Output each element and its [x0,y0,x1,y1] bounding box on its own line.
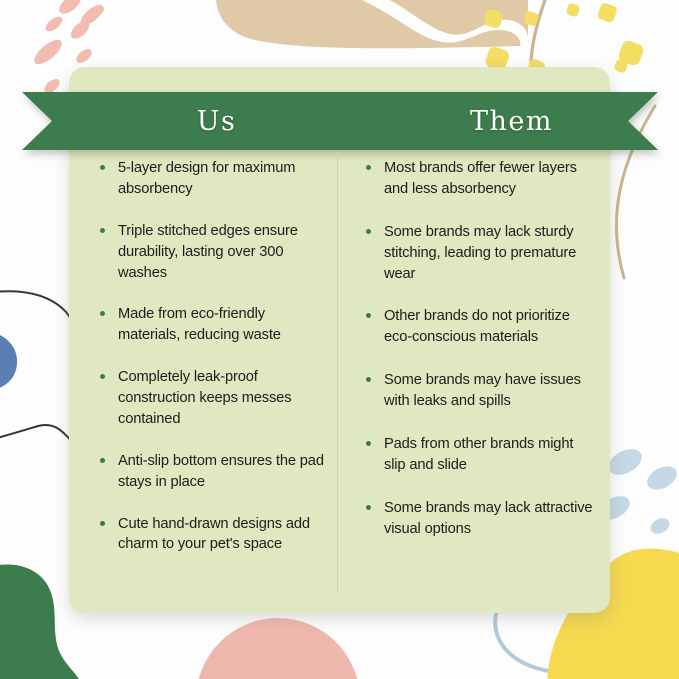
list-item: Most brands offer fewer layers and less … [365,158,598,200]
comparison-columns: 5-layer design for maximum absorbency Tr… [69,150,610,613]
list-item: Other brands do not prioritize eco-consc… [365,306,598,348]
benefit-list-them: Most brands offer fewer layers and less … [365,158,598,539]
column-them: Most brands offer fewer layers and less … [337,150,610,613]
column-title-us: Us [69,92,364,150]
column-us: 5-layer design for maximum absorbency Tr… [69,150,337,613]
infographic-canvas: Us Them 5-layer design for maximum absor… [0,0,679,679]
list-item: Triple stitched edges ensure durability,… [99,221,325,284]
list-item: Anti-slip bottom ensures the pad stays i… [99,451,325,493]
ribbon-header: Us Them [22,92,658,150]
list-item: Some brands may lack sturdy stitching, l… [365,222,598,285]
list-item: Made from eco-friendly materials, reduci… [99,304,325,346]
list-item: Pads from other brands might slip and sl… [365,434,598,476]
list-item: Some brands may have issues with leaks a… [365,370,598,412]
list-item: 5-layer design for maximum absorbency [99,158,325,200]
column-title-them: Them [364,92,659,150]
list-item: Some brands may lack attractive visual o… [365,498,598,540]
benefit-list-us: 5-layer design for maximum absorbency Tr… [99,158,325,555]
list-item: Cute hand-drawn designs add charm to you… [99,514,325,556]
list-item: Completely leak-proof construction keeps… [99,367,325,430]
